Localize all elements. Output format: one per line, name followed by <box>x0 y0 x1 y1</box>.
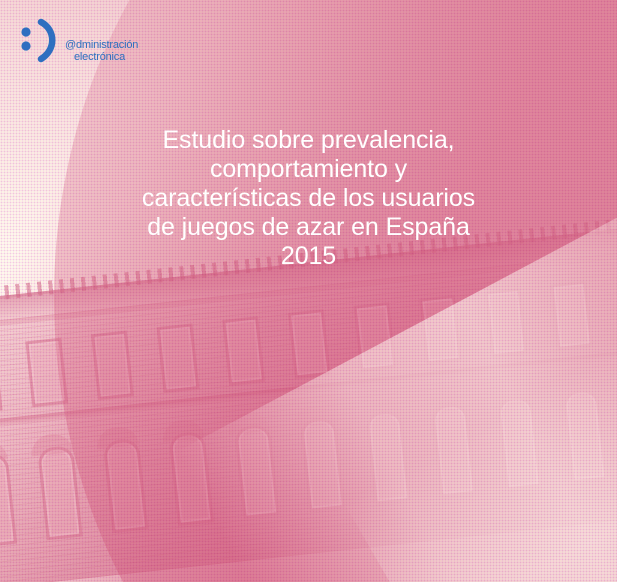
light-streak-layer <box>0 0 617 582</box>
halftone-dot-texture <box>0 0 617 582</box>
facade-lower-window-row <box>0 383 617 550</box>
administracion-electronica-logo: @dministración electrónica <box>16 18 138 69</box>
facade-window <box>485 288 528 358</box>
large-pink-ellipse <box>54 0 617 582</box>
cover-title-line-4: de juegos de azar en España <box>70 213 547 242</box>
facade-arched-window <box>299 416 345 511</box>
facade-arched-window <box>431 402 477 497</box>
smiley-colon-paren-icon <box>16 18 62 69</box>
facade-arched-window <box>37 445 83 540</box>
facade-arched-window <box>103 438 149 533</box>
corner-pink-tint <box>0 0 617 582</box>
ellipse-layer <box>0 0 617 582</box>
logo-wordmark-line-2: electrónica <box>65 52 138 63</box>
facade-arched-window <box>562 388 608 483</box>
logo-wordmark-line-1: @dministración <box>65 40 138 51</box>
facade-arched-window <box>365 409 411 504</box>
facade-arched-window <box>496 395 542 490</box>
building-photo-layer <box>0 0 617 582</box>
facade-window <box>353 302 396 372</box>
cover-title: Estudio sobre prevalencia, comportamient… <box>0 126 617 271</box>
facade-string-course <box>0 349 617 432</box>
cover-title-line-2: comportamiento y <box>70 155 547 184</box>
facade-wall <box>0 252 617 582</box>
facade-upper-window-row <box>0 276 617 417</box>
facade-arched-window <box>234 424 280 519</box>
cover-title-line-1: Estudio sobre prevalencia, <box>70 126 547 155</box>
facade-window <box>550 281 593 351</box>
cover-title-line-3: características de los usuarios <box>70 184 547 213</box>
logo-wordmark: @dministración electrónica <box>65 40 138 69</box>
report-cover-page: @dministración electrónica Estudio sobre… <box>0 0 617 582</box>
diagonal-light-streak-secondary <box>343 287 617 582</box>
facade-arched-window <box>168 431 214 526</box>
facade-window <box>157 323 200 393</box>
facade-window <box>0 345 3 415</box>
facade-window <box>419 295 462 365</box>
background-gradient <box>0 0 617 582</box>
facade-window <box>222 316 265 386</box>
facade-window <box>288 309 331 379</box>
facade-arched-window <box>0 452 17 547</box>
facade-window <box>25 338 68 408</box>
palace-facade-illustration <box>0 218 617 582</box>
cover-title-year: 2015 <box>70 242 547 271</box>
facade-window <box>91 330 134 400</box>
